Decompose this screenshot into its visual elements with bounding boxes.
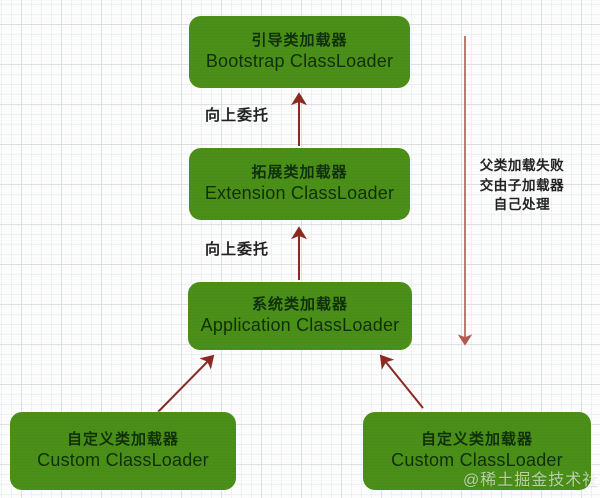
node-custom-left-label-en: Custom ClassLoader <box>37 450 209 471</box>
annotation-fallback-line3: 自己处理 <box>468 195 576 215</box>
watermark-text: @稀土掘金技术社区 <box>463 466 600 490</box>
node-extension-label-cn: 拓展类加载器 <box>251 164 347 182</box>
node-bootstrap-classloader[interactable]: 引导类加载器 Bootstrap ClassLoader <box>189 16 410 88</box>
diagram-canvas: 引导类加载器 Bootstrap ClassLoader 拓展类加载器 Exte… <box>0 0 600 498</box>
node-application-label-en: Application ClassLoader <box>201 315 400 336</box>
node-extension-label-en: Extension ClassLoader <box>205 183 394 204</box>
arrow-custom-left-to-application <box>158 356 213 412</box>
annotation-fallback-line1: 父类加载失败 <box>468 156 576 176</box>
node-custom-left-label-cn: 自定义类加载器 <box>67 431 179 449</box>
node-custom-classloader-left[interactable]: 自定义类加载器 Custom ClassLoader <box>10 412 236 490</box>
arrow-custom-right-to-application <box>381 356 423 408</box>
node-application-label-cn: 系统类加载器 <box>252 296 348 314</box>
annotation-fallback-line2: 交由子加载器 <box>468 176 576 196</box>
edge-label-delegate-up-top: 向上委托 <box>205 104 269 125</box>
node-application-classloader[interactable]: 系统类加载器 Application ClassLoader <box>188 282 412 350</box>
node-bootstrap-label-en: Bootstrap ClassLoader <box>206 51 393 72</box>
node-extension-classloader[interactable]: 拓展类加载器 Extension ClassLoader <box>189 148 410 220</box>
node-bootstrap-label-cn: 引导类加载器 <box>251 32 347 50</box>
node-custom-right-label-cn: 自定义类加载器 <box>421 431 533 449</box>
edge-label-delegate-up-bottom: 向上委托 <box>205 238 269 259</box>
annotation-fallback: 父类加载失败 交由子加载器 自己处理 <box>468 156 576 215</box>
